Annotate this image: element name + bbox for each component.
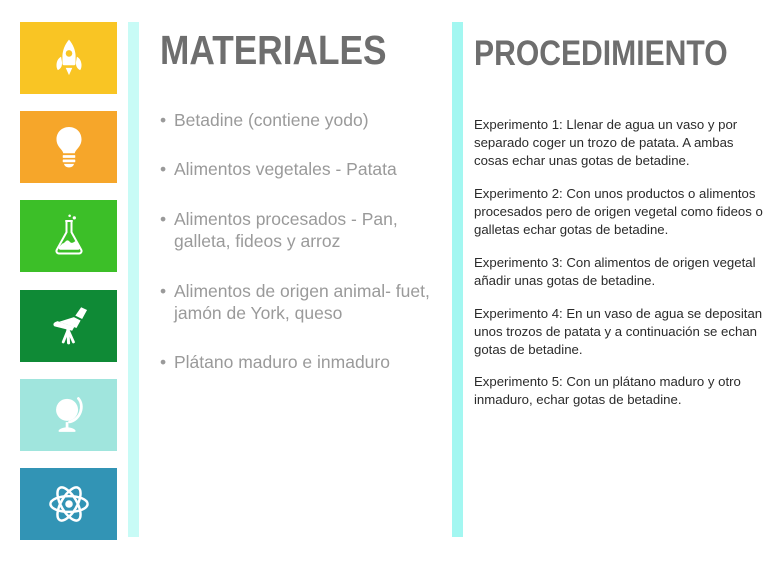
step-paragraph: Experimento 2: Con unos productos o alim… (474, 185, 764, 239)
icon-tile-telescope (20, 290, 117, 362)
materiales-column: MATERIALES • Betadine (contiene yodo) • … (160, 30, 440, 374)
list-item-label: Alimentos vegetales - Patata (174, 159, 397, 179)
divider-right (452, 22, 463, 537)
bullet-icon: • (160, 109, 166, 131)
list-item: • Alimentos vegetales - Patata (160, 158, 440, 180)
procedimiento-steps: Experimento 1: Llenar de agua un vaso y … (474, 116, 764, 409)
step-paragraph: Experimento 3: Con alimentos de origen v… (474, 254, 764, 290)
list-item-label: Alimentos procesados - Pan, galleta, fid… (174, 209, 398, 251)
step-paragraph: Experimento 1: Llenar de agua un vaso y … (474, 116, 764, 170)
telescope-icon (46, 305, 92, 347)
bullet-icon: • (160, 158, 166, 180)
step-paragraph: Experimento 5: Con un plátano maduro y o… (474, 373, 764, 409)
icon-tile-flask (20, 200, 117, 272)
icon-tile-rocket (20, 22, 117, 94)
globe-icon (48, 393, 90, 437)
list-item-label: Alimentos de origen animal- fuet, jamón … (174, 281, 430, 323)
procedimiento-column: PROCEDIMIENTO Experimento 1: Llenar de a… (474, 36, 764, 409)
icon-tile-globe (20, 379, 117, 451)
list-item-label: Plátano maduro e inmaduro (174, 352, 390, 372)
bullet-icon: • (160, 208, 166, 230)
list-item: • Betadine (contiene yodo) (160, 109, 440, 131)
bullet-icon: • (160, 280, 166, 302)
procedimiento-heading: PROCEDIMIENTO (474, 36, 723, 71)
atom-icon (47, 482, 91, 526)
flask-icon (49, 213, 89, 259)
step-paragraph: Experimento 4: En un vaso de agua se dep… (474, 305, 764, 359)
materiales-heading: MATERIALES (160, 30, 401, 71)
icon-tile-atom (20, 468, 117, 540)
infographic-page: MATERIALES • Betadine (contiene yodo) • … (0, 0, 768, 561)
list-item: • Alimentos de origen animal- fuet, jamó… (160, 280, 440, 325)
list-item-label: Betadine (contiene yodo) (174, 110, 369, 130)
icon-rail (20, 22, 117, 540)
lightbulb-icon (49, 125, 89, 169)
bullet-icon: • (160, 351, 166, 373)
rocket-icon (48, 37, 90, 79)
list-item: • Alimentos procesados - Pan, galleta, f… (160, 208, 440, 253)
divider-left (128, 22, 139, 537)
icon-tile-lightbulb (20, 111, 117, 183)
list-item: • Plátano maduro e inmaduro (160, 351, 440, 373)
materiales-list: • Betadine (contiene yodo) • Alimentos v… (160, 109, 440, 374)
